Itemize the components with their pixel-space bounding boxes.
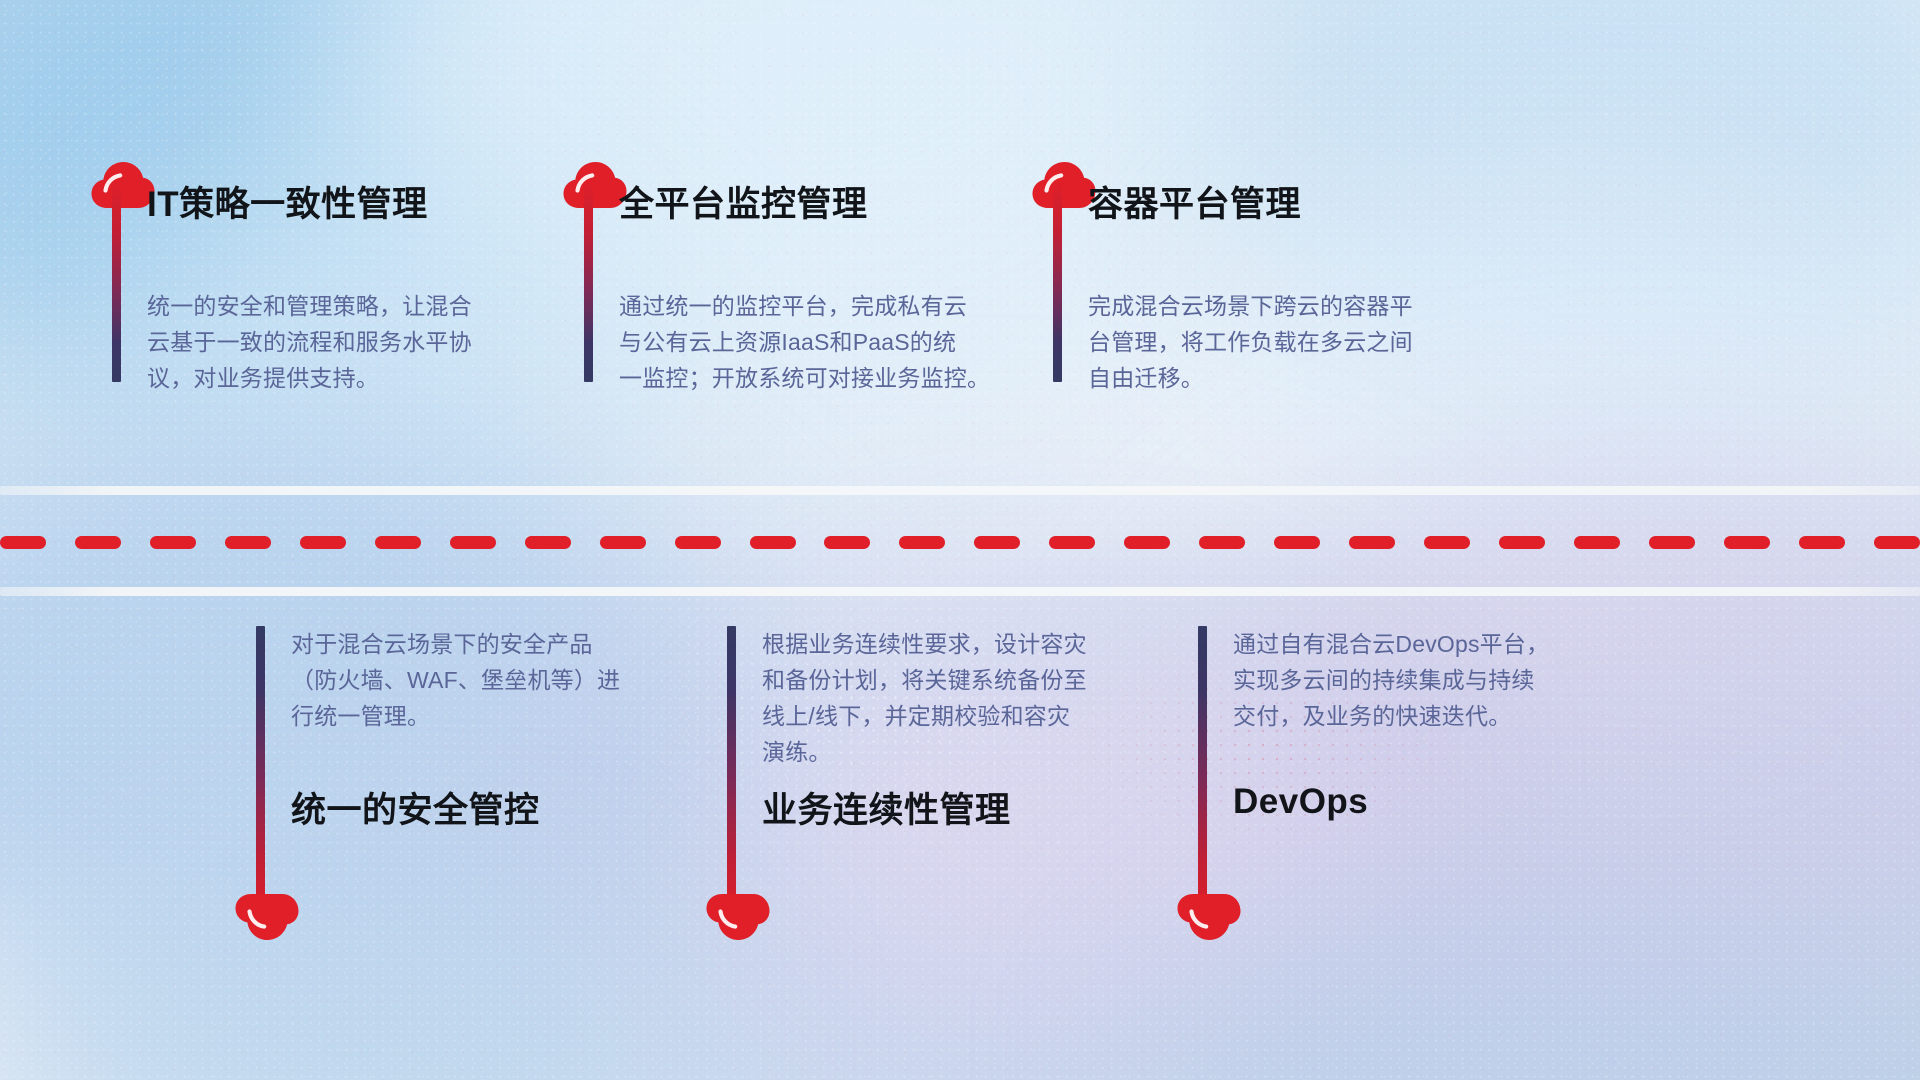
road-dash xyxy=(1574,536,1620,549)
description-line: 和备份计划，将关键系统备份至 xyxy=(762,662,1087,698)
marker-description: 通过自有混合云DevOps平台，实现多云间的持续集成与持续交付，及业务的快速迭代… xyxy=(1233,626,1549,734)
description-line: 完成混合云场景下跨云的容器平 xyxy=(1088,288,1413,324)
marker-title: 统一的安全管控 xyxy=(291,782,540,833)
marker-title: 容器平台管理 xyxy=(1088,176,1301,227)
infographic-canvas: IT策略一致性管理 统一的安全和管理策略，让混合云基于一致的流程和服务水平协议，… xyxy=(0,0,1920,1080)
description-line: 统一的安全和管理策略，让混合 xyxy=(147,288,472,324)
road-dash xyxy=(1874,536,1920,549)
description-line: （防火墙、WAF、堡垒机等）进 xyxy=(291,662,620,698)
marker-title: DevOps xyxy=(1233,782,1368,822)
marker-description: 通过统一的监控平台，完成私有云与公有云上资源IaaS和PaaS的统一监控；开放系… xyxy=(619,288,990,396)
description-line: 通过自有混合云DevOps平台， xyxy=(1233,626,1549,662)
description-line: 实现多云间的持续集成与持续 xyxy=(1233,662,1549,698)
road-dash xyxy=(974,536,1020,549)
description-line: 通过统一的监控平台，完成私有云 xyxy=(619,288,990,324)
road-dash xyxy=(1724,536,1770,549)
marker-title: 全平台监控管理 xyxy=(619,176,868,227)
cloud-pin-icon xyxy=(705,892,771,942)
road-dash xyxy=(1274,536,1320,549)
road-dash xyxy=(600,536,646,549)
road-dash xyxy=(525,536,571,549)
description-line: 对于混合云场景下的安全产品 xyxy=(291,626,620,662)
cloud-pin-icon xyxy=(1176,892,1242,942)
road-dash xyxy=(1199,536,1245,549)
road-dash xyxy=(675,536,721,549)
description-line: 线上/线下，并定期校验和容灾 xyxy=(762,698,1087,734)
marker-stem xyxy=(256,626,265,920)
marker-description: 对于混合云场景下的安全产品（防火墙、WAF、堡垒机等）进行统一管理。 xyxy=(291,626,620,734)
road-dash xyxy=(150,536,196,549)
marker-stem xyxy=(584,182,593,382)
description-line: 台管理，将工作负载在多云之间 xyxy=(1088,324,1413,360)
description-line: 与公有云上资源IaaS和PaaS的统 xyxy=(619,324,990,360)
road-edge-top xyxy=(0,486,1920,495)
description-line: 交付，及业务的快速迭代。 xyxy=(1233,698,1549,734)
road-dash xyxy=(300,536,346,549)
marker-title: 业务连续性管理 xyxy=(762,782,1011,833)
marker-title: IT策略一致性管理 xyxy=(147,176,428,227)
description-line: 一监控；开放系统可对接业务监控。 xyxy=(619,360,990,396)
marker-description: 统一的安全和管理策略，让混合云基于一致的流程和服务水平协议，对业务提供支持。 xyxy=(147,288,472,396)
description-line: 自由迁移。 xyxy=(1088,360,1413,396)
description-line: 议，对业务提供支持。 xyxy=(147,360,472,396)
road-dash xyxy=(75,536,121,549)
road-dash xyxy=(824,536,870,549)
marker-stem xyxy=(1198,626,1207,920)
description-line: 根据业务连续性要求，设计容灾 xyxy=(762,626,1087,662)
road-dash xyxy=(1424,536,1470,549)
road-edge-bottom xyxy=(0,587,1920,596)
description-line: 行统一管理。 xyxy=(291,698,620,734)
road-dash xyxy=(450,536,496,549)
marker-stem xyxy=(1053,182,1062,382)
road-dash xyxy=(1649,536,1695,549)
road-dash xyxy=(375,536,421,549)
marker-stem xyxy=(112,182,121,382)
description-line: 演练。 xyxy=(762,734,1087,770)
road-dash xyxy=(1499,536,1545,549)
description-line: 云基于一致的流程和服务水平协 xyxy=(147,324,472,360)
road-dash xyxy=(1124,536,1170,549)
road-dash xyxy=(1349,536,1395,549)
marker-stem xyxy=(727,626,736,920)
road-dash xyxy=(899,536,945,549)
road-divider xyxy=(0,486,1920,596)
cloud-pin-icon xyxy=(234,892,300,942)
road-dashes xyxy=(0,536,1920,549)
marker-description: 完成混合云场景下跨云的容器平台管理，将工作负载在多云之间自由迁移。 xyxy=(1088,288,1413,396)
road-dash xyxy=(750,536,796,549)
road-dash xyxy=(1799,536,1845,549)
marker-description: 根据业务连续性要求，设计容灾和备份计划，将关键系统备份至线上/线下，并定期校验和… xyxy=(762,626,1087,770)
road-dash xyxy=(1049,536,1095,549)
road-dash xyxy=(225,536,271,549)
road-dash xyxy=(0,536,46,549)
